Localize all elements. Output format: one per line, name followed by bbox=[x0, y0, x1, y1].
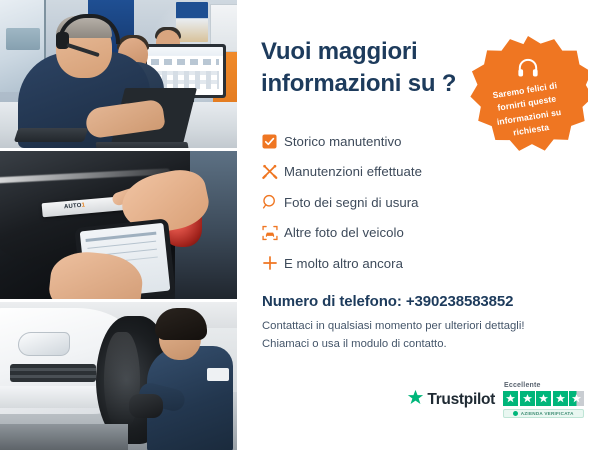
trustpilot-score-block: Eccellente bbox=[503, 382, 584, 418]
vehicle-lift bbox=[0, 424, 128, 450]
trustpilot-stars bbox=[503, 391, 584, 406]
trustpilot-logo: Trustpilot bbox=[407, 389, 495, 411]
car-headlight bbox=[18, 332, 70, 356]
mechanic-glove bbox=[129, 394, 163, 418]
mechanic-hair bbox=[155, 308, 207, 340]
feature-list: Storico manutentivo Manutenzioni effettu… bbox=[262, 128, 562, 281]
garage-mechanic-photo bbox=[0, 302, 237, 450]
keyboard bbox=[14, 128, 89, 142]
phone-number-line: Numero di telefono: +390238583852 bbox=[262, 293, 513, 310]
photo-column: AUTO1 bbox=[0, 0, 237, 450]
contact-copy-line-1: Contattaci in qualsiasi momento per ulte… bbox=[262, 320, 524, 332]
page-title: Vuoi maggiori informazioni su ? bbox=[261, 36, 476, 100]
star-5-half bbox=[569, 391, 584, 406]
feature-label: E molto altro ancora bbox=[284, 256, 403, 271]
feature-label: Altre foto del veicolo bbox=[284, 225, 404, 240]
promo-banner: AUTO1 Vuoi m bbox=[0, 0, 600, 450]
trustpilot-rating[interactable]: Trustpilot Eccellente bbox=[407, 382, 584, 418]
star-1 bbox=[503, 391, 518, 406]
feature-label: Storico manutentivo bbox=[284, 134, 402, 149]
feature-label: Manutenzioni effettuate bbox=[284, 164, 422, 179]
feature-item-foto-usura: Foto dei segni di usura bbox=[262, 189, 562, 215]
feature-item-altro-ancora: E molto altro ancora bbox=[262, 250, 562, 276]
trustpilot-star-icon bbox=[407, 389, 424, 411]
content-panel: Vuoi maggiori informazioni su ? Saremo f… bbox=[237, 0, 600, 450]
feature-item-altre-foto: Altre foto del veicolo bbox=[262, 220, 562, 246]
feature-item-storico: Storico manutentivo bbox=[262, 128, 562, 154]
contact-copy: Contattaci in qualsiasi momento per ulte… bbox=[262, 318, 567, 353]
uniform-patch bbox=[207, 368, 229, 381]
feature-item-manutenzioni: Manutenzioni effettuate bbox=[262, 159, 562, 185]
wrench-tools-icon bbox=[262, 164, 284, 180]
star-2 bbox=[520, 391, 535, 406]
verified-business-label: AZIENDA VERIFICATA bbox=[521, 411, 574, 416]
plus-icon bbox=[262, 255, 284, 271]
vehicle-inspection-photo: AUTO1 bbox=[0, 151, 237, 299]
checkbox-checked-icon bbox=[262, 134, 284, 149]
contact-copy-line-2: Chiamaci o usa il modulo di contatto. bbox=[262, 338, 447, 350]
trustpilot-rating-label: Eccellente bbox=[504, 382, 541, 389]
trustpilot-wordmark: Trustpilot bbox=[427, 391, 495, 409]
verified-check-icon bbox=[513, 411, 518, 416]
star-4 bbox=[553, 391, 568, 406]
feature-label: Foto dei segni di usura bbox=[284, 195, 419, 210]
magnifier-icon bbox=[262, 194, 284, 210]
call-centre-photo bbox=[0, 0, 237, 148]
car-grille bbox=[10, 364, 96, 382]
star-3 bbox=[536, 391, 551, 406]
strip-logo: AUTO1 bbox=[64, 203, 86, 211]
car-scan-icon bbox=[262, 225, 284, 241]
verified-business-badge: AZIENDA VERIFICATA bbox=[503, 409, 584, 418]
